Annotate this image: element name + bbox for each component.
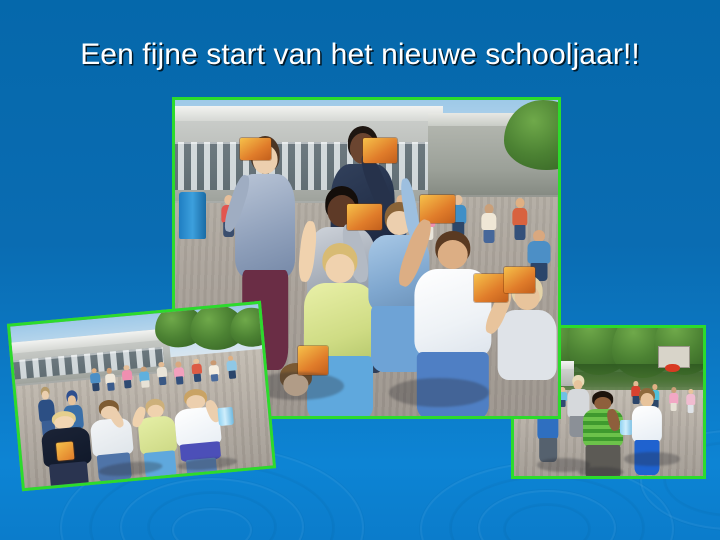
slide-title: Een fijne start van het nieuwe schooljaa… — [0, 38, 720, 72]
bottom-left-photo-scene — [10, 304, 273, 488]
bottom-left-photo[interactable] — [7, 301, 276, 491]
presentation-slide: Een fijne start van het nieuwe schooljaa… — [0, 0, 720, 540]
